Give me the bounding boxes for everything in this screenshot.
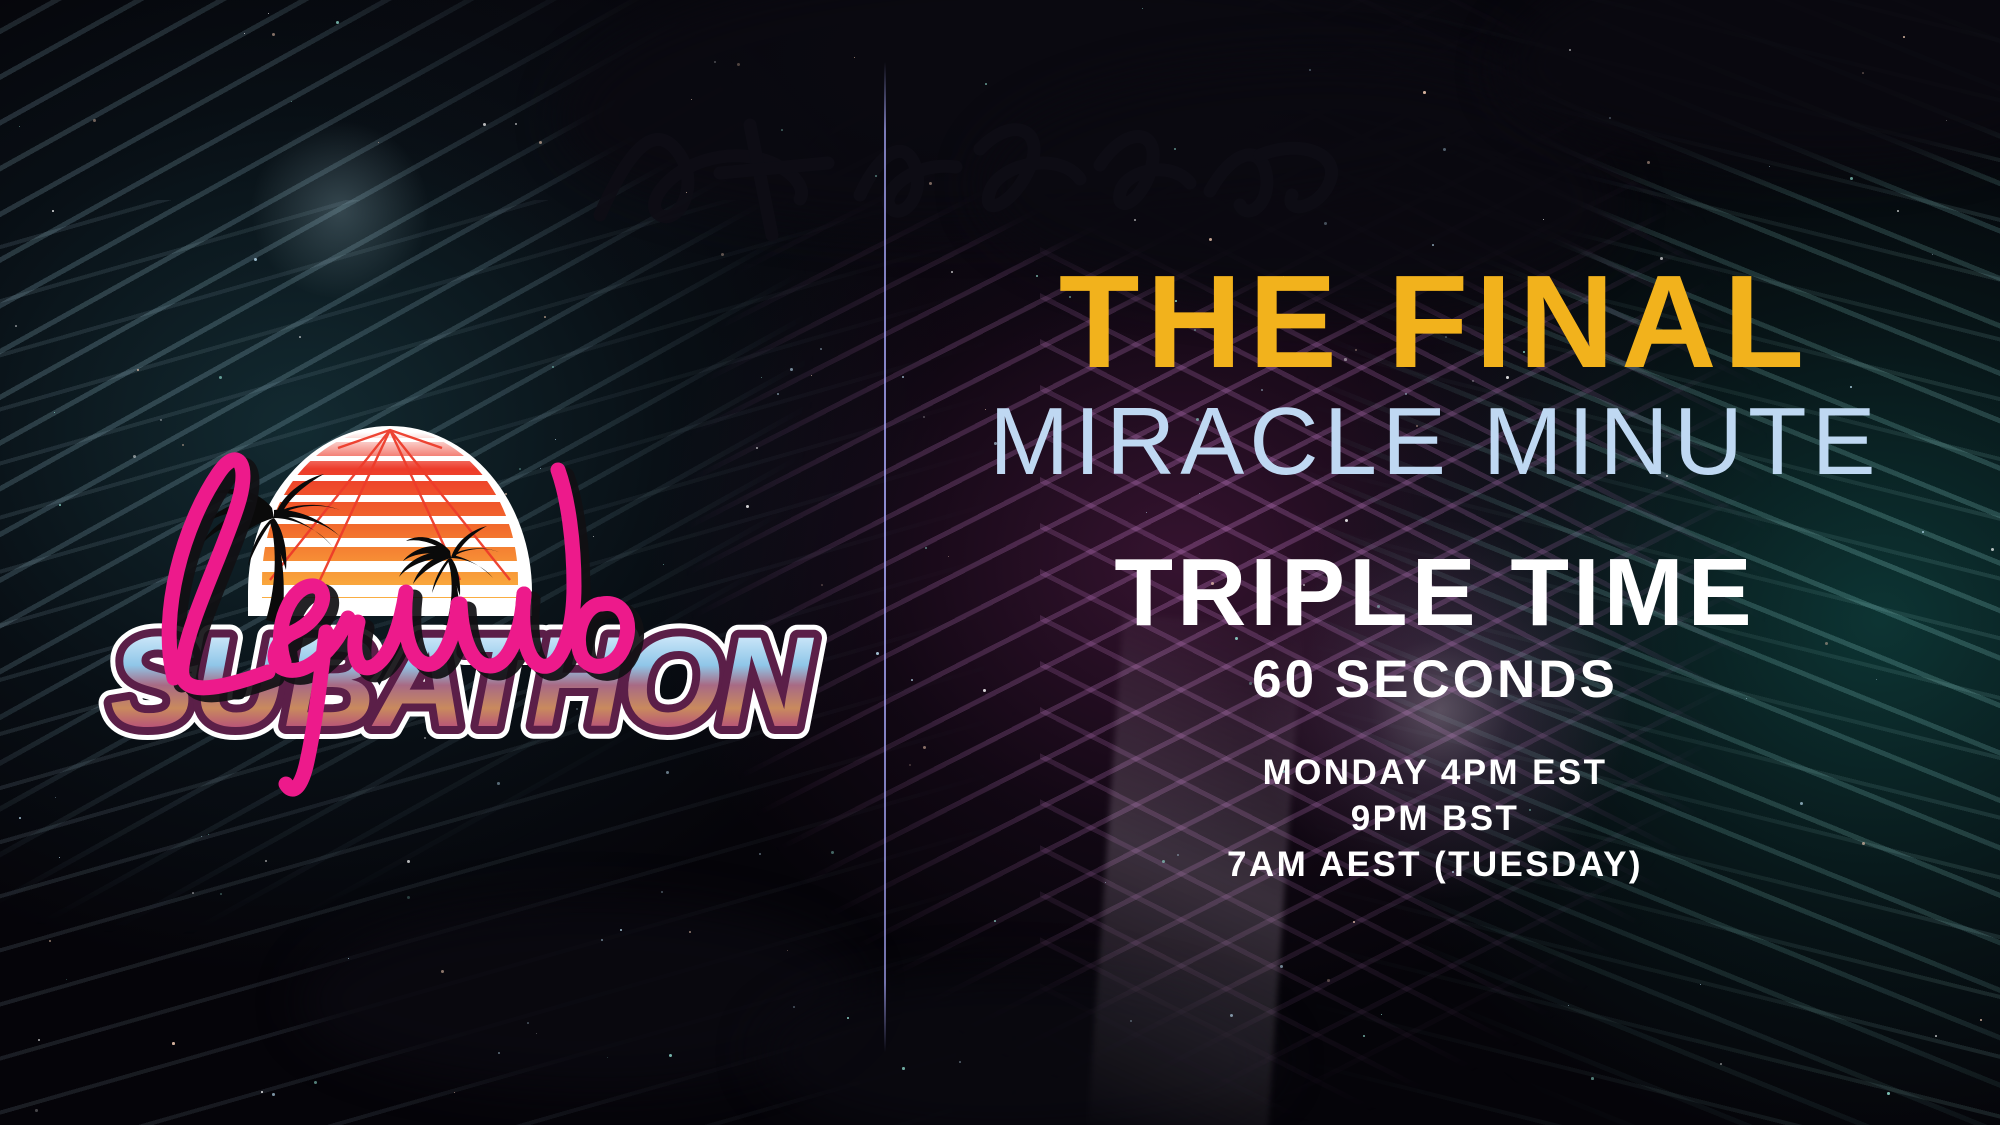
star	[1946, 120, 1947, 121]
star	[1647, 161, 1650, 164]
star	[1443, 148, 1446, 151]
star	[261, 1091, 263, 1093]
star	[847, 1017, 849, 1019]
star	[291, 101, 292, 102]
star	[348, 958, 349, 959]
lens-flare-left	[250, 120, 430, 300]
star	[498, 1052, 500, 1054]
star	[483, 123, 486, 126]
star	[272, 33, 275, 36]
star	[244, 33, 245, 34]
star	[1309, 69, 1311, 71]
star	[607, 1057, 608, 1058]
smoke-blob	[300, 900, 860, 1090]
star	[620, 929, 622, 931]
star	[1569, 49, 1571, 51]
schedule-time: 9PM BST	[900, 796, 1970, 842]
star	[1327, 979, 1330, 982]
smoke-blob	[760, 970, 1280, 1125]
star	[737, 63, 740, 66]
star	[35, 1109, 38, 1112]
star	[902, 1067, 905, 1070]
star	[407, 860, 410, 863]
star	[19, 126, 20, 127]
star	[201, 836, 202, 837]
star	[314, 1081, 317, 1084]
star	[1432, 244, 1434, 246]
star	[876, 652, 879, 655]
star	[1230, 1014, 1233, 1017]
star	[854, 57, 855, 58]
star	[38, 1039, 40, 1041]
star	[1423, 91, 1426, 94]
star	[454, 1092, 455, 1093]
star	[1850, 177, 1853, 180]
star	[1897, 210, 1899, 212]
star	[1991, 548, 1994, 551]
star	[268, 13, 269, 14]
star	[208, 834, 209, 835]
star	[1720, 1063, 1722, 1065]
star	[441, 970, 444, 973]
star	[378, 142, 379, 143]
star	[781, 129, 783, 131]
star	[1134, 219, 1136, 221]
star	[1174, 148, 1176, 150]
star	[985, 83, 987, 85]
star	[1543, 219, 1544, 220]
star	[691, 99, 692, 100]
star	[1935, 1035, 1937, 1037]
star	[1700, 984, 1701, 985]
star	[721, 253, 724, 256]
star	[689, 931, 691, 933]
star	[54, 412, 55, 413]
star	[59, 857, 60, 858]
schedule-time: 7AM AEST (TUESDAY)	[900, 842, 1970, 888]
star	[669, 1054, 672, 1057]
star	[1324, 222, 1327, 225]
star	[15, 325, 17, 327]
star	[19, 817, 21, 819]
star	[1591, 1077, 1594, 1080]
star	[52, 210, 54, 212]
star	[1130, 1020, 1132, 1022]
smoke-blob	[560, 0, 1540, 230]
subhead-title: TRIPLE TIME	[900, 544, 1970, 642]
star	[536, 1033, 537, 1034]
star	[994, 920, 996, 922]
star	[1142, 8, 1143, 9]
star	[192, 892, 194, 894]
schedule-time: MONDAY 4PM EST	[900, 750, 1970, 796]
legundo-subathon-logo: SUBATHON SUBATHON SUBATHON	[70, 280, 830, 800]
star	[49, 940, 51, 942]
star	[601, 939, 603, 941]
star	[714, 61, 716, 63]
headline-line-1: THE FINAL	[900, 255, 1970, 390]
star	[265, 860, 267, 862]
star	[686, 192, 687, 193]
star	[1280, 965, 1283, 968]
promo-canvas: SUBATHON SUBATHON SUBATHON	[0, 0, 2000, 1125]
star	[93, 119, 96, 122]
star	[539, 141, 542, 144]
smoke-blob	[1500, 0, 2000, 170]
star	[407, 896, 410, 899]
star	[1381, 1014, 1382, 1015]
star	[1980, 1019, 1982, 1021]
vertical-divider-line	[884, 62, 886, 1052]
star	[515, 123, 517, 125]
logo-artwork: SUBATHON SUBATHON SUBATHON	[70, 280, 830, 800]
star	[272, 1093, 275, 1096]
star	[831, 851, 834, 854]
announcement-copy: THE FINAL MIRACLE MINUTE TRIPLE TIME 60 …	[900, 255, 1970, 889]
star	[1609, 117, 1611, 119]
star	[875, 175, 877, 177]
star	[55, 797, 56, 798]
star	[1887, 1092, 1890, 1095]
subhead-duration: 60 SECONDS	[900, 652, 1970, 708]
star	[254, 258, 257, 261]
star	[1568, 1005, 1569, 1006]
star	[527, 1022, 529, 1024]
star	[787, 950, 788, 951]
star	[1769, 166, 1770, 167]
star	[1353, 921, 1355, 923]
headline-line-2: MIRACLE MINUTE	[900, 392, 1970, 493]
star	[793, 1006, 795, 1008]
star	[929, 182, 932, 185]
star	[959, 1061, 961, 1063]
star	[1363, 1035, 1365, 1037]
star	[66, 979, 67, 980]
star	[59, 504, 61, 506]
star	[1862, 72, 1864, 74]
star	[220, 893, 222, 895]
star	[1209, 238, 1212, 241]
star	[336, 21, 339, 24]
schedule-list: MONDAY 4PM EST 9PM BST 7AM AEST (TUESDAY…	[900, 750, 1970, 889]
star	[661, 891, 663, 893]
star	[172, 1042, 175, 1045]
star	[1903, 36, 1905, 38]
star	[759, 853, 761, 855]
logo-script-word: Legundo	[0, 0, 636, 789]
